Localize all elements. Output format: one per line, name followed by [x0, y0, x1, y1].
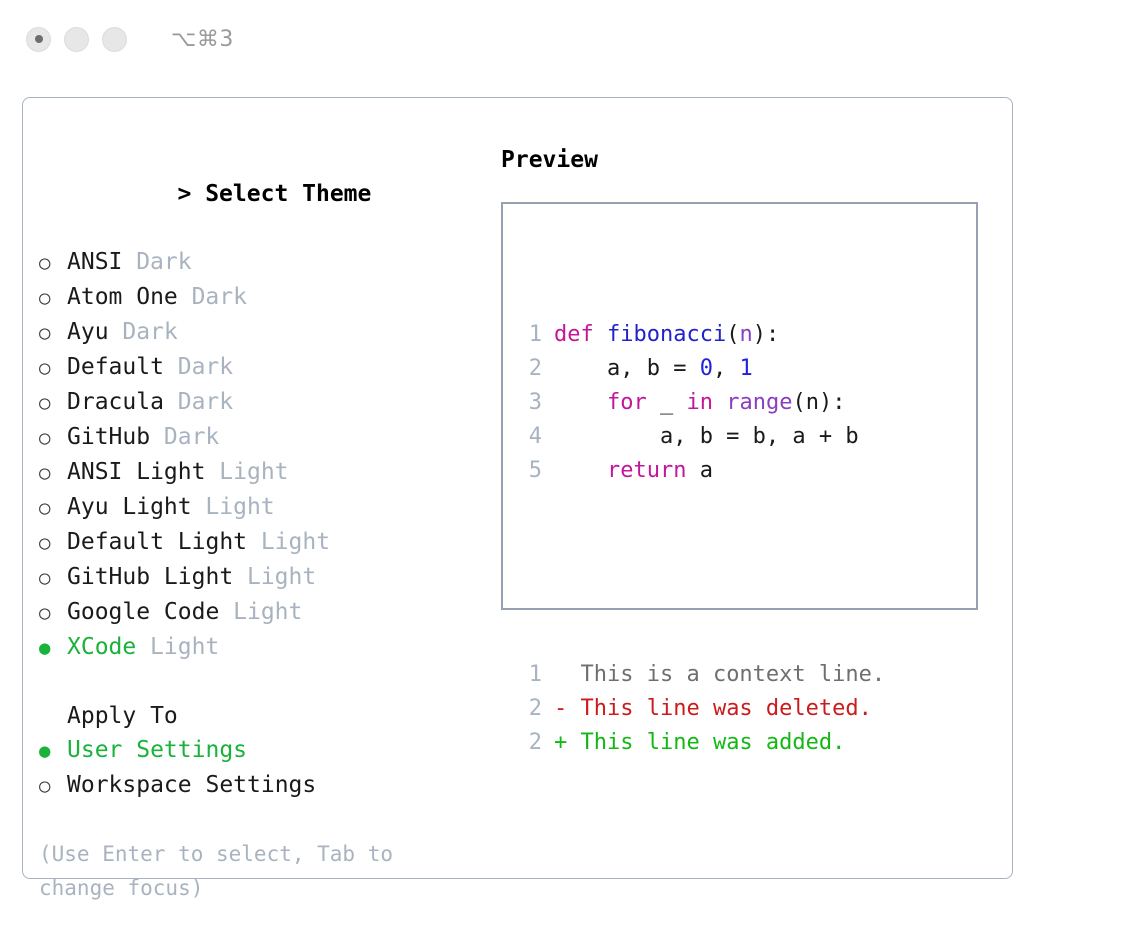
theme-option-label: Ayu Light: [67, 490, 192, 524]
select-theme-header: > Select Theme: [39, 143, 489, 245]
radio-selected-icon: ●: [39, 631, 67, 665]
theme-option-default-light[interactable]: ○Default LightLight: [39, 525, 489, 560]
theme-option-label: Ayu: [67, 315, 109, 349]
theme-option-github-light[interactable]: ○GitHub LightLight: [39, 560, 489, 595]
theme-option-kind: Light: [150, 630, 219, 664]
circle-button-two-icon[interactable]: [64, 27, 89, 52]
diff-text: This is a context line.: [567, 662, 885, 687]
code-token: [713, 390, 726, 415]
theme-option-label: Default Light: [67, 525, 247, 559]
theme-option-xcode[interactable]: ●XCodeLight: [39, 630, 489, 665]
theme-option-label: Dracula: [67, 385, 164, 419]
circle-button-three-icon[interactable]: [102, 27, 127, 52]
theme-option-kind: Dark: [136, 245, 191, 279]
code-token: 1: [739, 356, 752, 381]
code-token: (: [726, 322, 739, 347]
code-line-number: 4: [512, 420, 542, 454]
theme-option-label: ANSI Light: [67, 455, 205, 489]
code-token: a, b =: [554, 356, 700, 381]
code-line: 5 return a: [512, 454, 885, 488]
code-token: [554, 390, 607, 415]
theme-option-dracula[interactable]: ○DraculaDark: [39, 385, 489, 420]
code-line-text: def fibonacci(n):: [542, 318, 779, 352]
window-title: ⌥⌘3: [171, 27, 234, 52]
diff-text: This line was added.: [567, 730, 845, 755]
code-diff-gap: [512, 556, 885, 590]
theme-option-kind: Light: [219, 455, 288, 489]
active-indicator-dot-icon[interactable]: [26, 27, 51, 52]
code-token: [554, 458, 607, 483]
diff-marker: +: [554, 730, 567, 755]
radio-unselected-icon: ○: [39, 491, 67, 525]
select-theme-label: Select Theme: [205, 181, 371, 207]
theme-option-label: XCode: [67, 630, 136, 664]
apply-to-list: ●User Settings○Workspace Settings: [39, 733, 489, 803]
radio-unselected-icon: ○: [39, 596, 67, 630]
code-token: ):: [753, 322, 780, 347]
preview-column: Preview 1def fibonacci(n):2 a, b = 0, 13…: [501, 143, 991, 610]
theme-option-kind: Dark: [178, 385, 233, 419]
title-bar: ⌥⌘3: [0, 0, 1140, 78]
diff-text: This line was deleted.: [567, 696, 872, 721]
diff-line: 2- This line was deleted.: [512, 692, 885, 726]
code-line-number: 3: [512, 386, 542, 420]
preview-title: Preview: [501, 143, 991, 177]
main-panel: > Select Theme ○ANSIDark○Atom OneDark○Ay…: [22, 97, 1013, 879]
focus-caret-icon: >: [177, 181, 191, 207]
theme-option-label: ANSI: [67, 245, 122, 279]
inner-dot-icon: [35, 35, 43, 43]
theme-option-ansi[interactable]: ○ANSIDark: [39, 245, 489, 280]
radio-unselected-icon: ○: [39, 456, 67, 490]
theme-list: ○ANSIDark○Atom OneDark○AyuDark○DefaultDa…: [39, 245, 489, 665]
radio-unselected-icon: ○: [39, 351, 67, 385]
diff-line: 1 This is a context line.: [512, 658, 885, 692]
theme-option-ayu-light[interactable]: ○Ayu LightLight: [39, 490, 489, 525]
diff-line-text: This is a context line.: [542, 658, 885, 692]
code-token: a: [686, 458, 713, 483]
code-token: range: [726, 390, 792, 415]
code-line-number: 1: [512, 318, 542, 352]
diff-line-text: - This line was deleted.: [542, 692, 872, 726]
code-token: 0: [700, 356, 713, 381]
radio-unselected-icon: ○: [39, 526, 67, 560]
radio-unselected-icon: ○: [39, 281, 67, 315]
theme-option-ayu[interactable]: ○AyuDark: [39, 315, 489, 350]
preview-code: 1def fibonacci(n):2 a, b = 0, 13 for _ i…: [512, 250, 885, 828]
code-line-text: a, b = b, a + b: [542, 420, 859, 454]
diff-sample: 1 This is a context line.2- This line wa…: [512, 658, 885, 760]
code-token: return: [607, 458, 686, 483]
app-window: ⌥⌘3 > Select Theme ○ANSIDark○Atom OneDar…: [0, 0, 1140, 934]
diff-line-number: 1: [512, 658, 542, 692]
code-token: ,: [713, 356, 740, 381]
code-line-text: a, b = 0, 1: [542, 352, 753, 386]
code-line: 2 a, b = 0, 1: [512, 352, 885, 386]
radio-unselected-icon: ○: [39, 386, 67, 420]
diff-line-number: 2: [512, 692, 542, 726]
theme-option-label: GitHub: [67, 420, 150, 454]
code-line-text: return a: [542, 454, 713, 488]
keyboard-hint-text: (Use Enter to select, Tab to change focu…: [39, 837, 451, 905]
panel-columns: > Select Theme ○ANSIDark○Atom OneDark○Ay…: [23, 98, 1012, 878]
theme-option-kind: Dark: [192, 280, 247, 314]
theme-option-kind: Dark: [122, 315, 177, 349]
code-token: [594, 322, 607, 347]
theme-option-kind: Light: [261, 525, 330, 559]
traffic-light-buttons: [26, 27, 127, 52]
code-token: (n):: [792, 390, 845, 415]
code-line-number: 5: [512, 454, 542, 488]
radio-unselected-icon: ○: [39, 561, 67, 595]
radio-unselected-icon: ○: [39, 246, 67, 280]
code-token: a, b = b, a + b: [554, 424, 859, 449]
code-token: fibonacci: [607, 322, 726, 347]
code-line: 3 for _ in range(n):: [512, 386, 885, 420]
theme-option-google-code[interactable]: ○Google CodeLight: [39, 595, 489, 630]
radio-selected-icon: ●: [39, 734, 67, 768]
radio-unselected-icon: ○: [39, 421, 67, 455]
diff-marker: [554, 662, 567, 687]
list-spacer: [39, 665, 489, 699]
apply-to-option-user-settings[interactable]: ●User Settings: [39, 733, 489, 768]
diff-line: 2+ This line was added.: [512, 726, 885, 760]
code-token: for: [607, 390, 647, 415]
apply-to-header: Apply To: [39, 699, 489, 733]
theme-option-default[interactable]: ○DefaultDark: [39, 350, 489, 385]
apply-to-option-label: User Settings: [67, 733, 247, 767]
theme-option-kind: Light: [233, 595, 302, 629]
preview-box: 1def fibonacci(n):2 a, b = 0, 13 for _ i…: [501, 202, 978, 610]
diff-line-text: + This line was added.: [542, 726, 845, 760]
code-line: 1def fibonacci(n):: [512, 318, 885, 352]
apply-to-option-label: Workspace Settings: [67, 768, 316, 802]
code-token: in: [686, 390, 713, 415]
theme-option-atom-one[interactable]: ○Atom OneDark: [39, 280, 489, 315]
apply-to-option-workspace-settings[interactable]: ○Workspace Settings: [39, 768, 489, 803]
theme-option-ansi-light[interactable]: ○ANSI LightLight: [39, 455, 489, 490]
code-line: 4 a, b = b, a + b: [512, 420, 885, 454]
theme-option-kind: Dark: [178, 350, 233, 384]
code-token: def: [554, 322, 594, 347]
theme-option-kind: Dark: [164, 420, 219, 454]
code-line-number: 2: [512, 352, 542, 386]
theme-option-label: Default: [67, 350, 164, 384]
radio-unselected-icon: ○: [39, 769, 67, 803]
theme-option-label: Atom One: [67, 280, 178, 314]
code-token: _: [647, 390, 687, 415]
theme-option-kind: Light: [247, 560, 316, 594]
radio-unselected-icon: ○: [39, 316, 67, 350]
theme-option-label: Google Code: [67, 595, 219, 629]
code-token: n: [739, 322, 752, 347]
diff-line-number: 2: [512, 726, 542, 760]
theme-selector-column: > Select Theme ○ANSIDark○Atom OneDark○Ay…: [39, 143, 489, 905]
code-sample: 1def fibonacci(n):2 a, b = 0, 13 for _ i…: [512, 318, 885, 488]
theme-option-label: GitHub Light: [67, 560, 233, 594]
code-line-text: for _ in range(n):: [542, 386, 845, 420]
theme-option-github[interactable]: ○GitHubDark: [39, 420, 489, 455]
theme-option-kind: Light: [205, 490, 274, 524]
diff-marker: -: [554, 696, 567, 721]
